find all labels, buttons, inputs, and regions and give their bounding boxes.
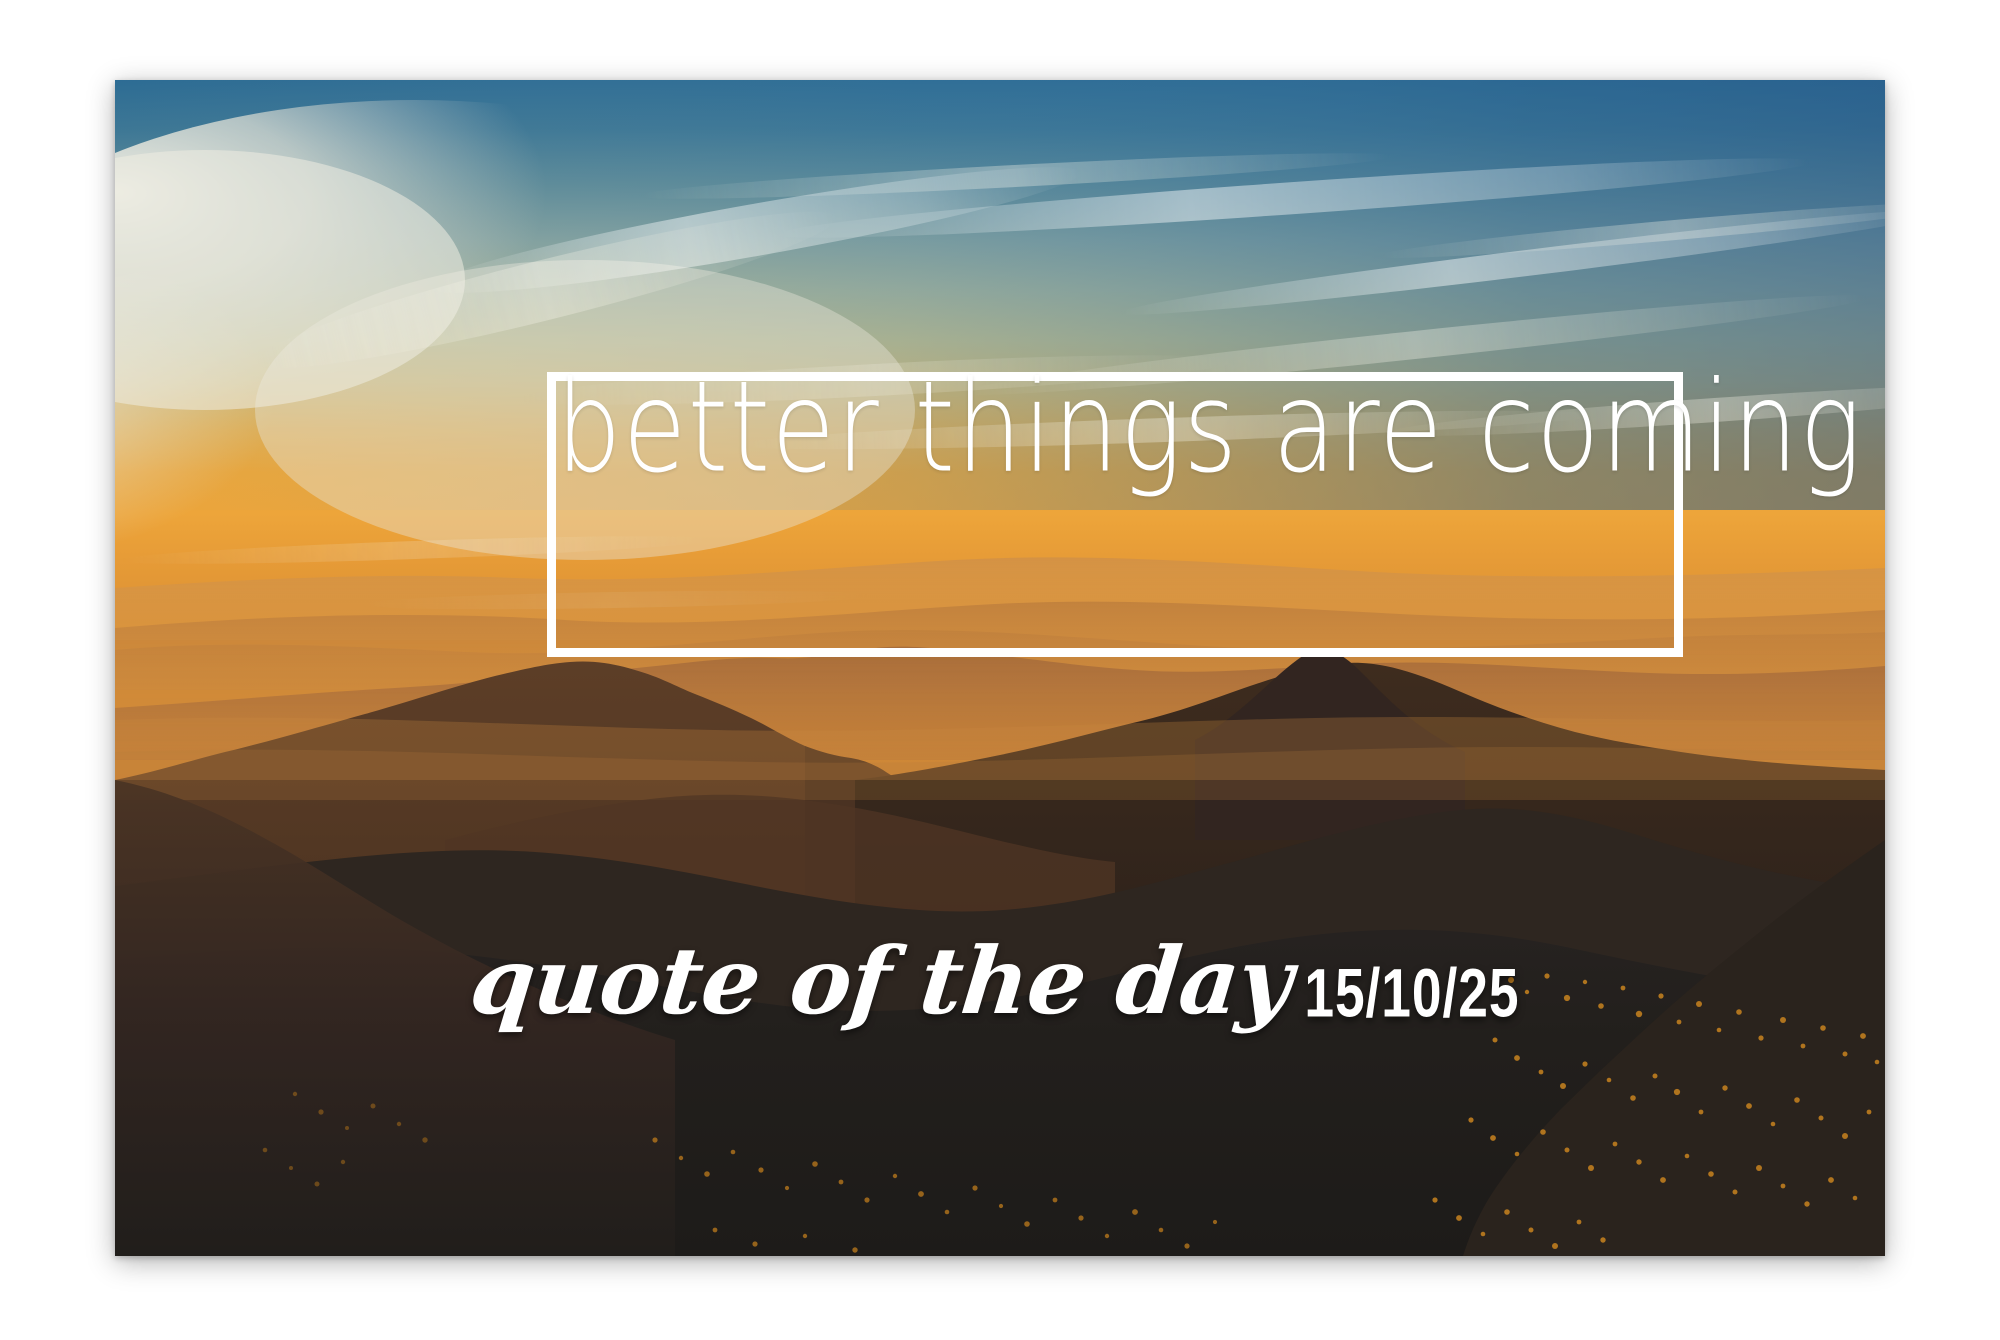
quote-photo-card: better things are coming quote of the da… bbox=[115, 80, 1885, 1256]
signature-text: quote of the day bbox=[466, 935, 1296, 1027]
headline-frame: better things are coming bbox=[547, 372, 1683, 657]
screenshot-canvas: better things are coming quote of the da… bbox=[0, 0, 2000, 1340]
footer-block: quote of the day 15/10/25 bbox=[115, 935, 1885, 1027]
date-text: 15/10/25 bbox=[1305, 960, 1520, 1028]
headline-text: better things are coming bbox=[556, 366, 1674, 492]
mountain-sunset-illustration bbox=[115, 80, 1885, 1256]
